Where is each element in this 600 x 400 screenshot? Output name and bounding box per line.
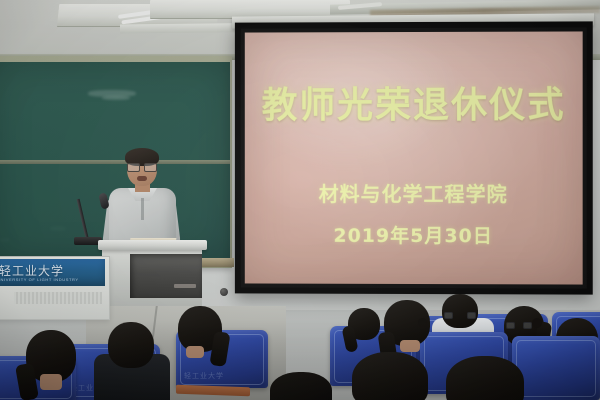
speaker-placket — [141, 198, 144, 220]
person-2-head — [108, 322, 154, 368]
person-3-neck — [40, 374, 62, 390]
glasses-icon-person-7 — [444, 312, 476, 317]
lectern-cabinet — [130, 254, 202, 298]
person-7-head — [442, 294, 478, 328]
seat-mid-3 — [512, 336, 600, 400]
university-name-en: UNIVERSITY OF LIGHT INDUSTRY — [0, 277, 79, 282]
person-1-neck — [186, 346, 204, 358]
lectern-label — [174, 284, 196, 288]
lectern-knob — [220, 288, 228, 296]
cabinet-vent — [14, 292, 102, 304]
screen-vignette — [245, 31, 583, 284]
projection-screen-icon: 教师光荣退休仪式 材料与化学工程学院 2019年5月30日 — [235, 21, 593, 294]
projected-slide: 教师光荣退休仪式 材料与化学工程学院 2019年5月30日 — [245, 31, 583, 284]
person-5-hair-clip — [418, 318, 427, 327]
person-11-head — [270, 372, 332, 400]
person-5-neck — [400, 340, 420, 352]
speaker-mouth — [137, 176, 147, 181]
university-sign: 轻工业大学 UNIVERSITY OF LIGHT INDUSTRY — [0, 259, 105, 286]
glasses-icon — [127, 163, 157, 170]
person-10-head — [446, 356, 524, 400]
lectern-top — [98, 240, 207, 250]
person-8-hair-tie — [532, 318, 542, 328]
lectern — [100, 240, 205, 308]
person-6-head — [352, 352, 428, 400]
lecture-hall-photo: 教师光荣退休仪式 材料与化学工程学院 2019年5月30日 — [0, 0, 600, 400]
seat-label-1: 轻工业大学 — [184, 371, 224, 381]
glasses-icon-person-8 — [506, 322, 532, 327]
